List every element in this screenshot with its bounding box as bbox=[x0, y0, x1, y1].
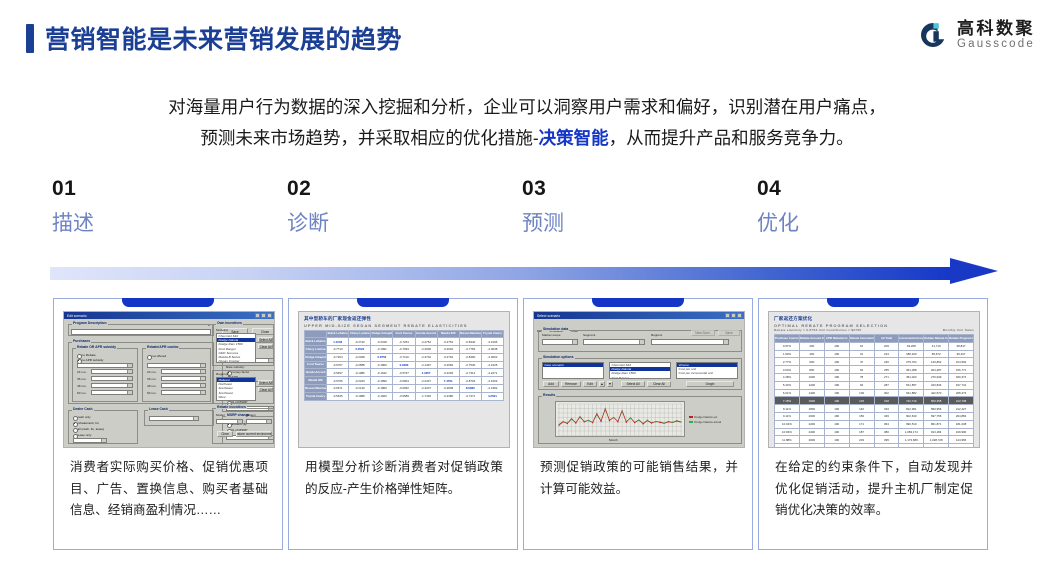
table-row: 1.90%40019031224188,32989,67290,407 bbox=[775, 350, 974, 358]
matrix-cell: -2.0602 bbox=[481, 353, 503, 361]
move-up-button[interactable]: ▲ bbox=[599, 381, 605, 387]
rebate-cell: 31 bbox=[849, 350, 874, 358]
step-04-label: 优化 bbox=[757, 213, 967, 235]
save-button[interactable]: Save bbox=[222, 328, 248, 335]
rebate-col-3: Rebate Incremental bbox=[849, 335, 874, 343]
label-48mo: 48 mo. bbox=[77, 384, 86, 388]
table-row: Dodge Intrepid-0.7204-0.20280.8752-0.711… bbox=[305, 353, 504, 361]
edit-button[interactable]: Edit bbox=[583, 381, 597, 387]
card-tab-icon bbox=[357, 298, 449, 307]
matrix-col-6: Nissan Maxima bbox=[459, 330, 481, 338]
matrix-row-4: Honda Accord bbox=[305, 369, 327, 377]
card-optimize[interactable]: 厂家返还方案优化 OPTIMAL REBATE PROGRAM SELECTIO… bbox=[758, 298, 988, 550]
rebate-cell: 181,038 bbox=[949, 420, 974, 428]
rebate-cell: 200 bbox=[799, 342, 824, 350]
matrix-cell: -0.6767 bbox=[327, 361, 349, 369]
radio-lease-only[interactable]: lease only bbox=[73, 433, 91, 437]
chart-xlabel: Month bbox=[609, 438, 618, 442]
group-leases: Leases bbox=[226, 339, 240, 343]
matrix-cell: -0.6766 bbox=[327, 377, 349, 385]
matrix-cell: -0.7756 bbox=[459, 346, 481, 354]
card-predict-caption: 预测促销政策的可能销售结果，并计算可能效益。 bbox=[540, 457, 738, 500]
rebate-cell: 2800 bbox=[799, 444, 824, 448]
screenshot-optimal-rebate: 厂家返还方案优化 OPTIMAL REBATE PROGRAM SELECTIO… bbox=[768, 311, 980, 448]
step-02-label: 诊断 bbox=[287, 213, 497, 235]
rebate-cell: 10.02% bbox=[775, 420, 800, 428]
table-row: 7.15%1600190125318722,719509,358213,708 bbox=[775, 397, 974, 405]
matrix-cell: -0.5767 bbox=[393, 369, 415, 377]
rebate-cell: 180,374 bbox=[949, 373, 974, 381]
sim-model-option-3[interactable]: Ford Ranger bbox=[610, 376, 670, 379]
rebate-cell: 697,756 bbox=[924, 412, 949, 420]
matrix-cell: -0.2794 bbox=[437, 353, 459, 361]
rebate-cell: 188,329 bbox=[899, 350, 924, 358]
radio-pct-msrp[interactable]: % of MSRP bbox=[227, 400, 248, 404]
step-03-number: 03 bbox=[522, 178, 732, 200]
matrix-cell: -0.1988 bbox=[349, 392, 371, 400]
rebate-cell: 1,173,689 bbox=[899, 436, 924, 444]
clear-all-button[interactable]: Clear All bbox=[647, 381, 671, 387]
rebate-cell: 800 bbox=[799, 366, 824, 374]
table-row: 10.93%24001901873801,083,174913,184169,9… bbox=[775, 428, 974, 436]
matrix-cell: -0.1890 bbox=[371, 377, 393, 385]
segment-combo[interactable] bbox=[583, 339, 645, 345]
rebate-cell: 541,587 bbox=[899, 381, 924, 389]
rebate-cell: 380 bbox=[874, 428, 899, 436]
combo-label-48mo: 48 mo. bbox=[147, 384, 156, 388]
matrix-cell: 8.6080 bbox=[459, 385, 481, 393]
matrix-cell: -0.2233 bbox=[349, 377, 371, 385]
rebate-cell: 190 bbox=[824, 420, 849, 428]
rebate-cell: 190 bbox=[824, 358, 849, 366]
matrix-cell: -2.3702 bbox=[415, 353, 437, 361]
var-option-2[interactable]: Cost per incremental unit bbox=[677, 371, 737, 375]
model-listbox[interactable]: Chevrolet S10 Dodge Dakota Dodge Ram 150… bbox=[609, 362, 671, 379]
legend-est: Dodge Dakota est bbox=[689, 415, 717, 419]
matrix-cell: -0.1991 bbox=[371, 346, 393, 354]
rebate-col-1: Rebate Amount $ bbox=[799, 335, 824, 343]
matrix-cell: -2.3207 bbox=[415, 385, 437, 393]
rebate-col-7: Rebate Program Profit bbox=[949, 335, 974, 343]
radio-amount[interactable]: amount ($) bbox=[227, 395, 246, 399]
step-01: 01 描述 bbox=[52, 178, 262, 235]
matrix-cell: -0.2293 bbox=[437, 369, 459, 377]
combo-label-60mo: 60 mo. bbox=[147, 391, 156, 395]
matrix-corner bbox=[305, 330, 327, 338]
rebate-cell: 109 bbox=[849, 389, 874, 397]
rebate-cell: 213,708 bbox=[949, 397, 974, 405]
paragraph-line-2b: ，从而提升产品和服务竞争力。 bbox=[609, 128, 854, 148]
rebate-cell: 12.79% bbox=[775, 444, 800, 448]
label-market-scope: Market scope bbox=[542, 333, 561, 337]
rebate-cell: 2000 bbox=[799, 412, 824, 420]
scenario-listbox[interactable]: base scenario bbox=[542, 362, 604, 379]
table-header-row: Buick LeSabreChevy LuminaDodge IntrepidF… bbox=[305, 330, 504, 338]
rebate-cell: 2400 bbox=[799, 428, 824, 436]
rebate-cell: 156 bbox=[849, 412, 874, 420]
matrix-cell: -2.1096 bbox=[481, 338, 503, 346]
matrix-cell: -0.1642 bbox=[371, 369, 393, 377]
move-down-button[interactable]: ▼ bbox=[607, 381, 613, 387]
label-residual-subsidy: no subsidy bbox=[226, 389, 241, 393]
slide-header: 营销智能是未来营销发展的趋势 高科数聚 Gausscode bbox=[0, 0, 1051, 70]
slide: 营销智能是未来营销发展的趋势 高科数聚 Gausscode 对海量用户行为数据的… bbox=[0, 0, 1051, 586]
matrix-cell: -0.8704 bbox=[459, 377, 481, 385]
arrow-head-icon bbox=[950, 258, 998, 284]
rebate-cell: 599,956 bbox=[924, 405, 949, 413]
step-01-label: 描述 bbox=[52, 213, 262, 235]
regions-combo[interactable] bbox=[651, 339, 729, 345]
rebate-cell: 422,570 bbox=[924, 389, 949, 397]
rebate-cell: 509,358 bbox=[924, 397, 949, 405]
save-button[interactable]: Save bbox=[718, 330, 740, 336]
matrix-col-7: Toyota Camry bbox=[481, 330, 503, 338]
rebate-cell: 209 bbox=[874, 342, 899, 350]
matrix-cell: -2.1663 bbox=[481, 377, 503, 385]
optimal-rebate-table: Purchase Customer PriceRebate Amount $AP… bbox=[774, 334, 974, 448]
rebate-cell: 240 bbox=[874, 358, 899, 366]
win3-title: Select scenario bbox=[537, 314, 560, 318]
matrix-cell: -0.7110 bbox=[393, 353, 415, 361]
table-row: Honda Accord-0.5497-0.1986-0.1642-0.5767… bbox=[305, 369, 504, 377]
rebate-cell: 395 bbox=[874, 436, 899, 444]
matrix-cell: -0.2380 bbox=[437, 392, 459, 400]
rebate-cell: 190 bbox=[824, 444, 849, 448]
group-program-description: Program Description bbox=[72, 321, 108, 325]
table-row: 3.64%80019062255361,098204,287156,771 bbox=[775, 366, 974, 374]
rebate-cell: 190 bbox=[824, 397, 849, 405]
table-row: 12.79%28001902184111,260,7531,151,017112… bbox=[775, 444, 974, 448]
rebate-cell: 364 bbox=[874, 420, 899, 428]
rebate-subtitle-right: Monthly Unit Sales bbox=[943, 328, 974, 332]
matrix-row-7: Toyota Camry bbox=[305, 392, 327, 400]
rebate-cell: 208,473 bbox=[949, 389, 974, 397]
rebate-cell: 1800 bbox=[799, 405, 824, 413]
rebate-cell: 190 bbox=[824, 373, 849, 381]
matrix-cell: 7.4791 bbox=[437, 377, 459, 385]
remove-button[interactable]: Remove bbox=[561, 381, 581, 387]
rebate-cell: 270,949 bbox=[924, 373, 949, 381]
rebate-cell: 190 bbox=[824, 381, 849, 389]
table-row: 8.11%1800190140333812,381599,956212,427 bbox=[775, 405, 974, 413]
rebate-cell: 1,028,728 bbox=[924, 436, 949, 444]
step-04-number: 04 bbox=[757, 178, 967, 200]
matrix-cell: -0.2028 bbox=[349, 353, 371, 361]
matrix-cell: -0.2669 bbox=[437, 361, 459, 369]
matrix-cell: 0.9480 bbox=[393, 361, 415, 369]
group-results: Results bbox=[542, 393, 556, 397]
matrix-cell: -0.2602 bbox=[437, 346, 459, 354]
rebate-subtitle: Rebate elasticity = 0.8753 Unit Contribu… bbox=[774, 328, 974, 332]
radio-msrp-amount[interactable]: amount ($) bbox=[227, 422, 246, 426]
table-row: Mazda 626-0.6766-0.2233-0.1890-0.6904-2.… bbox=[305, 377, 504, 385]
rebate-cell: 125 bbox=[849, 397, 874, 405]
matrix-cell: 1.1548 bbox=[327, 338, 349, 346]
group-msrp-change: MSRP change bbox=[226, 413, 251, 417]
table-row: Chevy Lumina-0.77132.2522-0.1991-0.7093-… bbox=[305, 346, 504, 354]
rebate-cell: 10.93% bbox=[775, 428, 800, 436]
rebate-cell: 218 bbox=[849, 444, 874, 448]
label-regions: Regions bbox=[651, 333, 662, 337]
rebate-cell: 140,862 bbox=[924, 358, 949, 366]
matrix-col-4: Honda Accord bbox=[415, 330, 437, 338]
rebate-cell: 343,846 bbox=[924, 381, 949, 389]
matrix-cell: -0.7371 bbox=[459, 392, 481, 400]
rebate-cell: 722,719 bbox=[899, 397, 924, 405]
rebate-cell: 78 bbox=[849, 373, 874, 381]
rebate-cell: 190 bbox=[824, 350, 849, 358]
rebate-cell: 801,871 bbox=[924, 420, 949, 428]
card-tab-icon bbox=[122, 298, 214, 307]
matrix-cell: -0.6589 bbox=[393, 392, 415, 400]
rebate-cell: 190 bbox=[824, 342, 849, 350]
matrix-cell: -0.7713 bbox=[327, 346, 349, 354]
logo-wordmark: 高科数聚 Gausscode bbox=[957, 20, 1035, 50]
radio-not-offered[interactable]: not offered bbox=[147, 354, 166, 358]
matrix-cell: -2.2752 bbox=[415, 338, 437, 346]
matrix-cell: -0.6671 bbox=[327, 385, 349, 393]
table-row: 6.01%1400190109302631,882422,570208,473 bbox=[775, 389, 974, 397]
screenshot-edit-scenario: Edit scenario Program Description Purcha… bbox=[63, 311, 275, 448]
matrix-cell: -0.2149 bbox=[349, 385, 371, 393]
combo-label-36mo: 36 mo. bbox=[147, 377, 156, 381]
matrix-cell: -0.7530 bbox=[459, 361, 481, 369]
group-dealer-cash: Dealer Cash bbox=[72, 407, 94, 411]
radio-all-cash[interactable]: all (cash, fin, lease) bbox=[73, 427, 104, 431]
rebate-cell: 190 bbox=[824, 428, 849, 436]
rebate-cell: 93,268 bbox=[899, 342, 924, 350]
graph-button[interactable]: Graph bbox=[686, 381, 734, 387]
rebate-cell: 90,407 bbox=[949, 350, 974, 358]
matrix-col-3: Ford Taurus bbox=[393, 330, 415, 338]
brand-logo: 高科数聚 Gausscode bbox=[918, 20, 1035, 50]
select-all-button[interactable]: Select All bbox=[621, 381, 645, 387]
rebate-cell: 400 bbox=[799, 350, 824, 358]
step-04: 04 优化 bbox=[757, 178, 967, 235]
rebate-cell: 302 bbox=[874, 389, 899, 397]
close-button[interactable]: Close bbox=[252, 328, 275, 335]
rebate-cell: 190 bbox=[824, 366, 849, 374]
rebate-cell: 190 bbox=[824, 405, 849, 413]
table-row: 2.77%60019047240279,704140,862104,592 bbox=[775, 358, 974, 366]
table-row: 9.11%2000190156349902,640697,756204,884 bbox=[775, 412, 974, 420]
rebate-cell: 47 bbox=[849, 358, 874, 366]
rebate-cell: 190 bbox=[824, 412, 849, 420]
rebate-cell: 255 bbox=[874, 366, 899, 374]
rebate-cell: 1,083,174 bbox=[899, 428, 924, 436]
matrix-row-3: Ford Taurus bbox=[305, 361, 327, 369]
radio-no-subsidy[interactable]: no subsidy bbox=[227, 347, 246, 351]
matrix-cell: -0.2588 bbox=[349, 361, 371, 369]
matrix-cell: -0.1660 bbox=[371, 392, 393, 400]
legend-actual: Dodge Dakota actual bbox=[689, 420, 721, 424]
rebate-cell: 1.90% bbox=[775, 350, 800, 358]
step-03-label: 预测 bbox=[522, 213, 732, 235]
title-accent-bar bbox=[26, 24, 34, 53]
rebate-cell: 0.97% bbox=[775, 342, 800, 350]
combo-label-24mo: 24 mo. bbox=[147, 370, 156, 374]
rebate-cell: 171 bbox=[849, 420, 874, 428]
radio-msrp-pct[interactable]: % of MSRP bbox=[227, 428, 248, 432]
card-optimize-caption: 在给定的约束条件下，自动发现并优化促销活动，提升主机厂制定促销优化决策的效率。 bbox=[775, 457, 973, 522]
rebate-cell: 1400 bbox=[799, 389, 824, 397]
matrix-cell: -2.2337 bbox=[415, 377, 437, 385]
matrix-cell: -0.8490 bbox=[459, 353, 481, 361]
matrix-cell: -0.7254 bbox=[393, 338, 415, 346]
radio-no-apr[interactable]: no APR subsidy bbox=[77, 358, 103, 362]
group-rebate-apr-combo: Rebate/APR combo bbox=[146, 345, 179, 349]
progress-arrow bbox=[50, 262, 1000, 288]
radio-no-rebate[interactable]: no Rebate bbox=[77, 353, 96, 357]
matrix-cell: -0.1986 bbox=[349, 369, 371, 377]
matrix-cell: -2.1497 bbox=[415, 361, 437, 369]
table-header-row: Purchase Customer PriceRebate Amount $AP… bbox=[775, 335, 974, 343]
group-purchases: Purchases bbox=[72, 339, 91, 343]
paragraph-line-2a: 预测未来市场趋势，并采取相应的优化措施- bbox=[200, 128, 538, 148]
card-diagnose[interactable]: 其中型轿车的厂家现金返还弹性 UPPER MID-SIZE SEDAN SEGM… bbox=[288, 298, 518, 550]
label-36mo: 36 mo. bbox=[77, 377, 86, 381]
rebate-cell: 990,510 bbox=[899, 420, 924, 428]
matrix-cell: -2.1925 bbox=[481, 361, 503, 369]
elasticity-matrix-table: Buick LeSabreChevy LuminaDodge IntrepidF… bbox=[304, 330, 504, 401]
rebate-cell: 2200 bbox=[799, 420, 824, 428]
step-02: 02 诊断 bbox=[287, 178, 497, 235]
matrix-cell: -0.2018 bbox=[371, 338, 393, 346]
variable-listbox[interactable]: Volume Cost per unit Cost per incrementa… bbox=[676, 362, 738, 379]
matrix-row-2: Dodge Intrepid bbox=[305, 353, 327, 361]
table-row: Nissan Maxima-0.6671-0.2149-0.1869-0.605… bbox=[305, 385, 504, 393]
rebate-cell: 279,704 bbox=[899, 358, 924, 366]
table-row: Toyota Camry-0.5645-0.1988-0.1660-0.6589… bbox=[305, 392, 504, 400]
rebate-cell: 361,098 bbox=[899, 366, 924, 374]
matrix-cell: -0.8340 bbox=[459, 338, 481, 346]
matrix-cell: 2.2522 bbox=[349, 346, 371, 354]
table-row: 11.88%26001902033951,173,6891,028,728144… bbox=[775, 436, 974, 444]
rebate-cell: 1000 bbox=[799, 373, 824, 381]
matrix-title-en: UPPER MID-SIZE SEDAN SEGMENT REBATE ELAS… bbox=[304, 323, 504, 328]
radio-cash-only[interactable]: cash only bbox=[73, 415, 91, 419]
rebate-cell: 9.11% bbox=[775, 412, 800, 420]
table-row: 10.02%2200190171364990,510801,871181,038 bbox=[775, 420, 974, 428]
group-rebate-apr-sub: Rebate OR APR subsidy bbox=[76, 345, 117, 349]
matrix-cell: 4.2561 bbox=[481, 392, 503, 400]
matrix-cell: -2.2271 bbox=[481, 369, 503, 377]
rebate-cell: 1,151,017 bbox=[924, 444, 949, 448]
rebate-cell: 144,956 bbox=[949, 436, 974, 444]
card-describe[interactable]: Edit scenario Program Description Purcha… bbox=[53, 298, 283, 550]
rebate-cell: 2.77% bbox=[775, 358, 800, 366]
table-row: 5.44%120019094287541,587343,846197,741 bbox=[775, 381, 974, 389]
screenshot-simulation: Select scenario File Simulation Tools Si… bbox=[533, 311, 745, 448]
radio-money-factor[interactable]: money factor bbox=[227, 370, 249, 374]
label-rate-subsidy: Rate subsidy: bbox=[226, 365, 245, 369]
label-24mo: 24 mo. bbox=[77, 370, 86, 374]
radio-apr[interactable]: APR bbox=[227, 375, 238, 379]
matrix-row-5: Mazda 626 bbox=[305, 377, 327, 385]
rebate-col-6: Rebate Rebate Cost bbox=[924, 335, 949, 343]
menu-bar[interactable]: File Simulation Tools bbox=[534, 319, 744, 324]
scenario-option-0[interactable]: base scenario bbox=[543, 363, 603, 367]
card-tab-icon bbox=[592, 298, 684, 307]
rebate-col-5: Incremental Gross Revenue bbox=[899, 335, 924, 343]
rebate-cell: 169,990 bbox=[949, 428, 974, 436]
matrix-col-5: Mazda 626 bbox=[437, 330, 459, 338]
rebate-cell: 271 bbox=[874, 373, 899, 381]
matrix-row-0: Buick LeSabre bbox=[305, 338, 327, 346]
card-describe-caption: 消费者实际购买价格、促销优惠项目、广告、置换信息、购买者基础信息、经销商盈利情况… bbox=[70, 457, 268, 522]
rebate-cell: 902,640 bbox=[899, 412, 924, 420]
matrix-cell: -0.6052 bbox=[393, 385, 415, 393]
rebate-col-0: Purchase Customer Price bbox=[775, 335, 800, 343]
group-lease-cash: Lease Cash bbox=[148, 407, 169, 411]
label-lease-cash: Lease Cash: bbox=[226, 353, 243, 357]
gausscode-logo-icon bbox=[918, 20, 948, 50]
rebate-cell: 349 bbox=[874, 412, 899, 420]
rebate-cell: 94 bbox=[849, 381, 874, 389]
results-chart bbox=[555, 401, 685, 437]
add-button[interactable]: Add bbox=[543, 381, 559, 387]
rebate-cell: 156,771 bbox=[949, 366, 974, 374]
rebate-cell: 224 bbox=[874, 350, 899, 358]
paragraph-highlight: 决策智能 bbox=[539, 128, 609, 148]
rebate-cell: 140 bbox=[849, 405, 874, 413]
matrix-cell: -0.7093 bbox=[393, 346, 415, 354]
matrix-cell: -0.1869 bbox=[371, 385, 393, 393]
table-row: Ford Taurus-0.6767-0.2588-0.18600.9480-2… bbox=[305, 361, 504, 369]
matrix-cell: -0.7314 bbox=[459, 369, 481, 377]
logo-name-en: Gausscode bbox=[957, 38, 1035, 50]
step-number-row: 01 描述 02 诊断 03 预测 04 优化 bbox=[52, 178, 1012, 248]
group-simulation-data: Simulation data bbox=[542, 327, 569, 331]
card-tab-icon bbox=[827, 298, 919, 307]
rebate-cell: 204,884 bbox=[949, 412, 974, 420]
step-02-number: 02 bbox=[287, 178, 497, 200]
matrix-cell: -0.5497 bbox=[327, 369, 349, 377]
matrix-col-2: Dodge Intrepid bbox=[371, 330, 393, 338]
rebate-cell: 16 bbox=[849, 342, 874, 350]
rebate-cell: 812,381 bbox=[899, 405, 924, 413]
rebate-cell: 333 bbox=[874, 405, 899, 413]
matrix-cell: -0.2742 bbox=[349, 338, 371, 346]
rebate-cell: 204,287 bbox=[924, 366, 949, 374]
rebate-cell: 4.48% bbox=[775, 373, 800, 381]
matrix-cell: -0.2754 bbox=[437, 338, 459, 346]
radio-rebate-cash[interactable]: rebate/cash, for bbox=[73, 421, 99, 425]
rebate-cell: 1600 bbox=[799, 397, 824, 405]
rebate-cell: 112,186 bbox=[949, 444, 974, 448]
title-label: 营销智能是未来营销发展的趋势 bbox=[45, 20, 402, 56]
intro-paragraph: 对海量用户行为数据的深入挖掘和分析，企业可以洞察用户需求和偏好，识别潜在用户痛点… bbox=[52, 92, 1002, 153]
rebate-cell: 6.01% bbox=[775, 389, 800, 397]
new-scenario-button[interactable]: New Scen. bbox=[691, 330, 715, 336]
card-predict[interactable]: Select scenario File Simulation Tools Si… bbox=[523, 298, 753, 550]
rebate-col-2: APR Rebate/cm bbox=[824, 335, 849, 343]
step-01-number: 01 bbox=[52, 178, 262, 200]
table-row: 0.97%2001901620993,26841,71968,847 bbox=[775, 342, 974, 350]
screenshot-elasticity-matrix: 其中型轿车的厂家现金返还弹性 UPPER MID-SIZE SEDAN SEGM… bbox=[298, 311, 510, 448]
matrix-cell: -1.7436 bbox=[415, 392, 437, 400]
rebate-cell: 318 bbox=[874, 397, 899, 405]
rebate-title-en: OPTIMAL REBATE PROGRAM SELECTION bbox=[774, 323, 974, 328]
win1-title: Edit scenario bbox=[67, 314, 87, 318]
arrow-body bbox=[50, 267, 958, 280]
card-diagnose-caption: 用模型分析诊断消费者对促销政策的反应-产生价格弹性矩阵。 bbox=[305, 457, 503, 500]
rebate-cell: 68,847 bbox=[949, 342, 974, 350]
rebate-cell: 190 bbox=[824, 389, 849, 397]
matrix-cell: -0.6904 bbox=[393, 377, 415, 385]
paragraph-line-1: 对海量用户行为数据的深入挖掘和分析，企业可以洞察用户需求和偏好，识别潜在用户痛点… bbox=[168, 97, 886, 117]
matrix-cell: -0.2838 bbox=[437, 385, 459, 393]
